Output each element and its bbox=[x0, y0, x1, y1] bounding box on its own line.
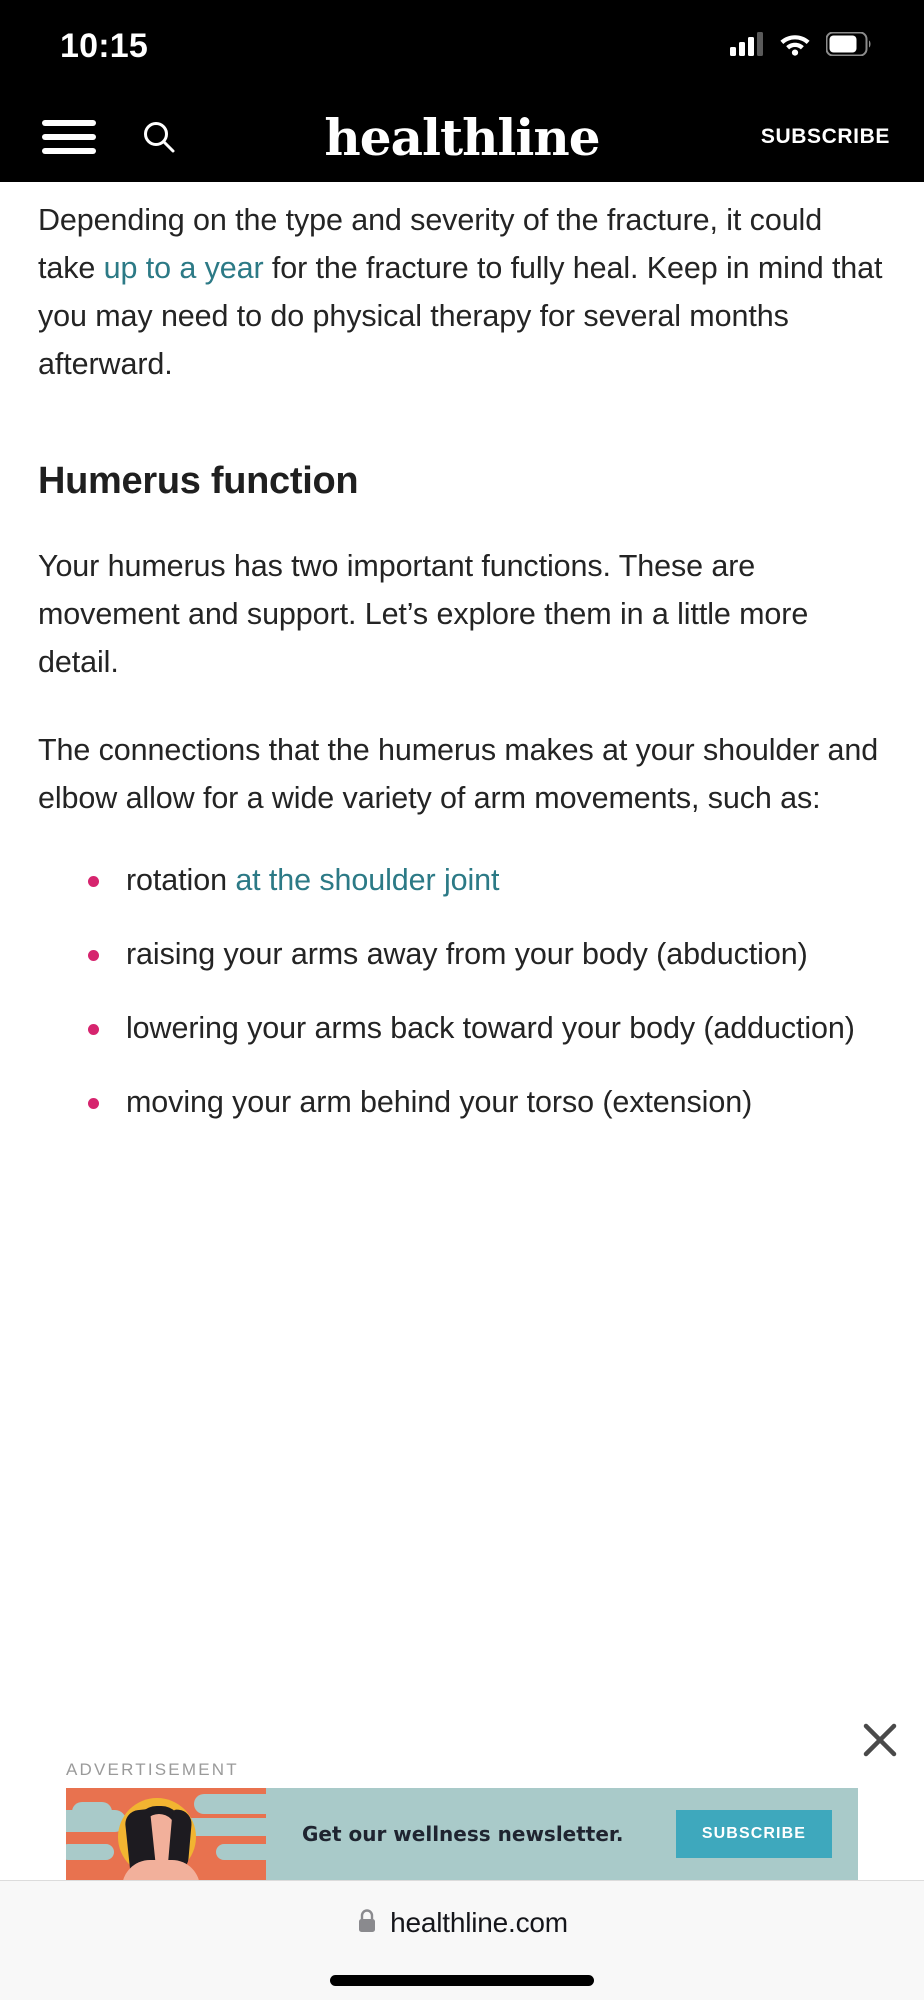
paragraph-humerus-functions: Your humerus has two important functions… bbox=[38, 542, 886, 686]
header-subscribe-button[interactable]: SUBSCRIBE bbox=[761, 125, 896, 149]
url-text: healthline.com bbox=[390, 1907, 568, 1939]
status-indicators bbox=[730, 31, 872, 61]
link-shoulder-joint[interactable]: at the shoulder joint bbox=[235, 863, 499, 897]
paragraph-connections: The connections that the humerus makes a… bbox=[38, 726, 886, 822]
movement-list: rotation at the shoulder joint raising y… bbox=[38, 856, 886, 1126]
status-clock: 10:15 bbox=[60, 27, 148, 66]
phone-screen: 10:15 bbox=[0, 0, 924, 2000]
address-bar[interactable]: healthline.com bbox=[356, 1907, 568, 1939]
hamburger-menu-icon[interactable] bbox=[42, 117, 96, 157]
site-header: healthline SUBSCRIBE bbox=[0, 92, 924, 182]
bullet-dot-icon bbox=[88, 1024, 99, 1035]
list-item-text: lowering your arms back toward your body… bbox=[126, 1011, 855, 1045]
list-item: raising your arms away from your body (a… bbox=[88, 930, 886, 978]
advertisement-headline: Get our wellness newsletter. bbox=[266, 1822, 676, 1847]
status-bar: 10:15 bbox=[0, 0, 924, 92]
bullet-dot-icon bbox=[88, 950, 99, 961]
paragraph-healing-time: Depending on the type and severity of th… bbox=[38, 196, 886, 388]
list-item: moving your arm behind your torso (exten… bbox=[88, 1078, 886, 1126]
cellular-signal-icon bbox=[730, 32, 764, 61]
bullet-dot-icon bbox=[88, 876, 99, 887]
list-item-text: rotation bbox=[126, 863, 235, 897]
lock-icon bbox=[356, 1908, 378, 1939]
advertisement-banner[interactable]: Get our wellness newsletter. SUBSCRIBE bbox=[66, 1788, 858, 1880]
article-content: Depending on the type and severity of th… bbox=[0, 182, 924, 1880]
advertisement-container: ADVERTISEMENT Get our wellness news bbox=[0, 1760, 924, 1880]
advertisement-label: ADVERTISEMENT bbox=[38, 1760, 886, 1788]
home-indicator bbox=[330, 1975, 594, 1986]
list-item: rotation at the shoulder joint bbox=[88, 856, 886, 904]
wifi-icon bbox=[778, 31, 812, 61]
section-heading-humerus-function: Humerus function bbox=[38, 458, 886, 504]
search-icon[interactable] bbox=[138, 116, 180, 158]
list-item-text: moving your arm behind your torso (exten… bbox=[126, 1085, 752, 1119]
bullet-dot-icon bbox=[88, 1098, 99, 1109]
advertisement-artwork bbox=[66, 1788, 266, 1880]
advertisement-subscribe-button[interactable]: SUBSCRIBE bbox=[676, 1810, 832, 1858]
link-up-to-a-year[interactable]: up to a year bbox=[104, 251, 264, 285]
browser-bottom-bar: healthline.com bbox=[0, 1880, 924, 2000]
close-icon[interactable] bbox=[852, 1712, 908, 1768]
list-item-text: raising your arms away from your body (a… bbox=[126, 937, 808, 971]
battery-icon bbox=[826, 32, 872, 61]
list-item: lowering your arms back toward your body… bbox=[88, 1004, 886, 1052]
